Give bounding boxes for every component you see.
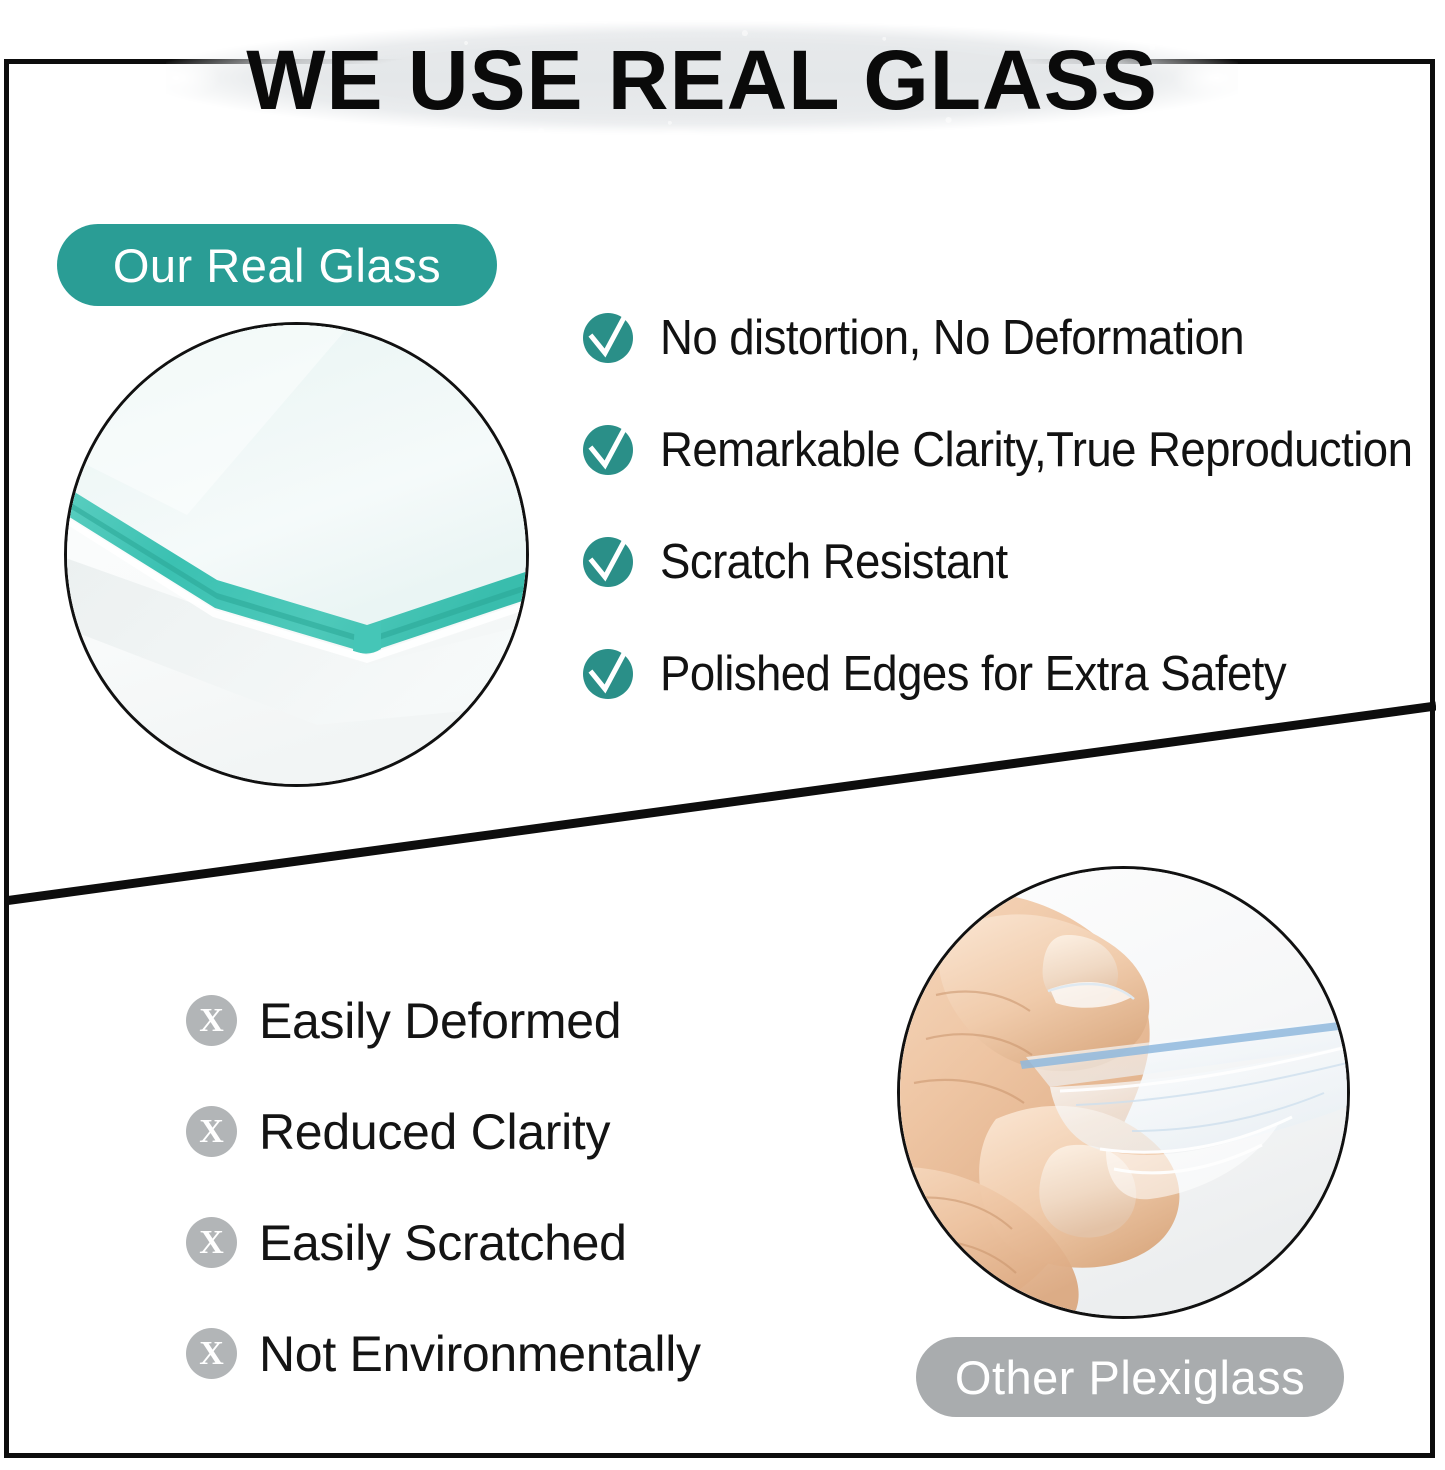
list-item-label: Easily Scratched (259, 1215, 627, 1271)
list-item: Scratch Resistant (582, 506, 1427, 618)
plexiglass-photo (897, 866, 1350, 1319)
list-item-label: Reduced Clarity (259, 1104, 610, 1160)
x-icon: X (186, 1217, 237, 1268)
check-icon (582, 536, 634, 588)
product-comparison-infographic: WE USE REAL GLASS Our Real Glass (0, 0, 1445, 1470)
x-icon: X (186, 995, 237, 1046)
list-item: No distortion, No Deformation (582, 282, 1427, 394)
list-item-label: Not Environmentally (259, 1326, 701, 1382)
check-icon (582, 648, 634, 700)
title-banner: WE USE REAL GLASS (166, 8, 1238, 148)
list-item-label: Scratch Resistant (660, 535, 1008, 589)
x-mark: X (186, 1328, 237, 1379)
list-item-label: Polished Edges for Extra Safety (660, 647, 1286, 701)
list-item: X Easily Scratched (186, 1187, 826, 1298)
list-item: Remarkable Clarity,True Reproduction (582, 394, 1427, 506)
list-item: X Reduced Clarity (186, 1076, 826, 1187)
page-title: WE USE REAL GLASS (166, 34, 1238, 126)
our-real-glass-badge: Our Real Glass (57, 224, 497, 306)
x-mark: X (186, 1217, 237, 1268)
list-item-label: Remarkable Clarity,True Reproduction (660, 423, 1412, 477)
plexiglass-drawbacks-list: X Easily Deformed X Reduced Clarity X Ea… (186, 965, 826, 1409)
x-icon: X (186, 1328, 237, 1379)
list-item-label: No distortion, No Deformation (660, 311, 1244, 365)
other-plexiglass-badge: Other Plexiglass (916, 1337, 1344, 1417)
x-icon: X (186, 1106, 237, 1157)
list-item: Polished Edges for Extra Safety (582, 618, 1427, 730)
list-item: X Not Environmentally (186, 1298, 826, 1409)
check-icon (582, 424, 634, 476)
glass-benefits-list: No distortion, No Deformation Remarkable… (582, 282, 1427, 730)
x-mark: X (186, 1106, 237, 1157)
check-icon (582, 312, 634, 364)
real-glass-photo (64, 322, 529, 787)
glass-corner-illustration (67, 325, 526, 784)
list-item-label: Easily Deformed (259, 993, 621, 1049)
hand-bending-plexiglass-illustration (900, 869, 1347, 1316)
list-item: X Easily Deformed (186, 965, 826, 1076)
x-mark: X (186, 995, 237, 1046)
